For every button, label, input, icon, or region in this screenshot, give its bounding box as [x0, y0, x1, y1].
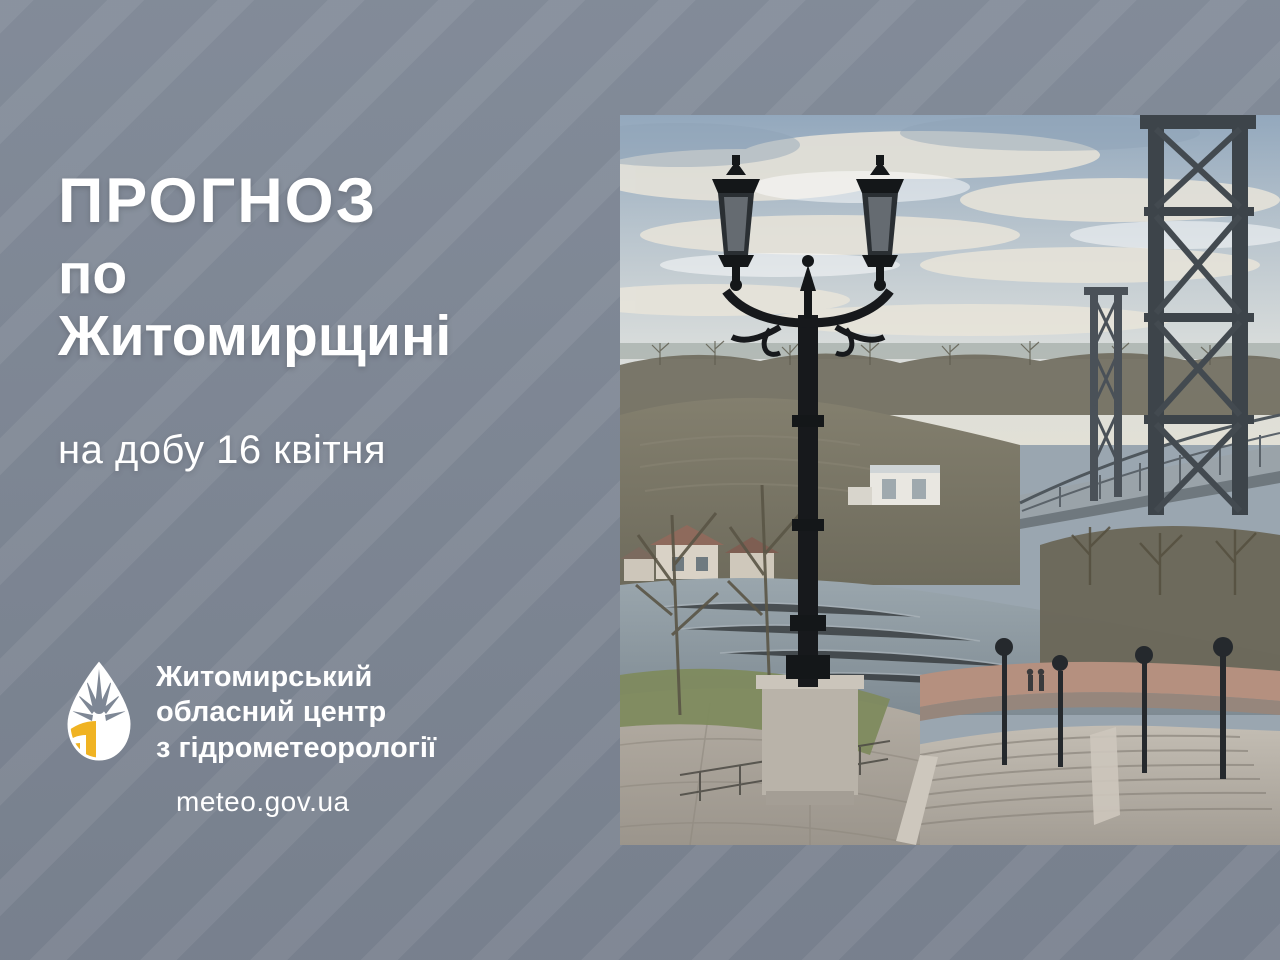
- headline-block: ПРОГНОЗ по Житомирщині: [58, 168, 618, 368]
- headline-line-2: по: [58, 243, 618, 306]
- organization-name-line-3: з гідрометеорології: [156, 731, 436, 766]
- headline-line-1: ПРОГНОЗ: [58, 168, 618, 235]
- poster-root: ПРОГНОЗ по Житомирщині на добу 16 квітня: [0, 0, 1280, 960]
- organization-name-line-1: Житомирський: [156, 660, 436, 695]
- headline-line-3: Житомирщині: [58, 305, 618, 368]
- website-url: meteo.gov.ua: [176, 786, 350, 818]
- organization-logo-block: Житомирський обласний центр з гідрометео…: [62, 660, 436, 766]
- subheadline-date: на добу 16 квітня: [58, 428, 386, 473]
- organization-name: Житомирський обласний центр з гідрометео…: [156, 660, 436, 766]
- organization-name-line-2: обласний центр: [156, 695, 436, 730]
- droplet-logo-icon: [62, 661, 136, 765]
- zhytomyr-embankment-photo: [620, 115, 1280, 845]
